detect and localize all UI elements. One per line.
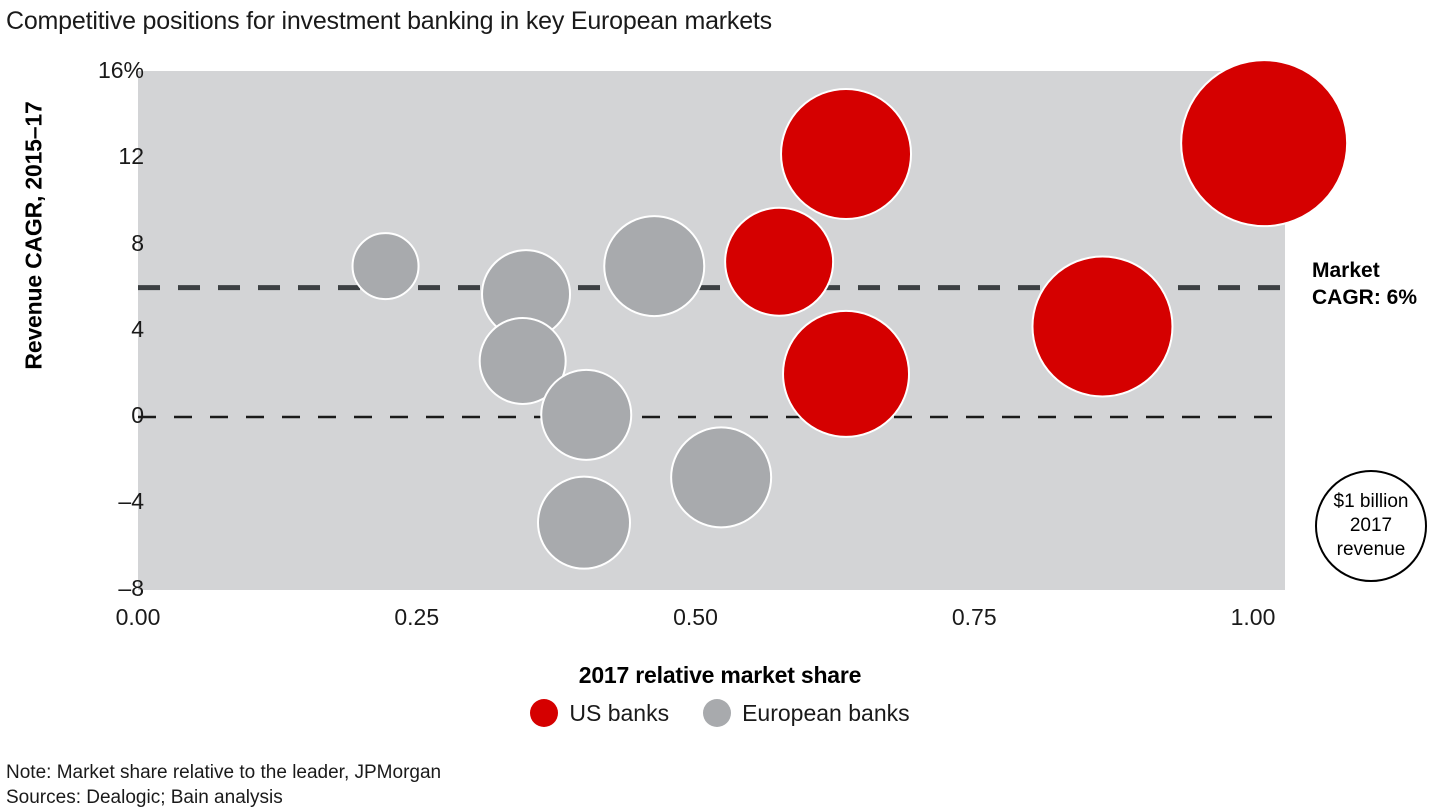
size-legend-line-1: $1 billion <box>1334 490 1409 514</box>
legend-swatch-circle-icon <box>530 699 558 727</box>
bubble-layer <box>138 71 1285 590</box>
market-cagr-annotation: Market CAGR: 6% <box>1312 257 1417 311</box>
plot-area <box>138 71 1285 590</box>
x-tick-label: 1.00 <box>1183 604 1323 631</box>
bubble-us-bank[interactable] <box>783 311 909 437</box>
y-tick-label: –4 <box>24 488 144 515</box>
bubble-us-bank[interactable] <box>725 208 833 316</box>
footnote-note: Note: Market share relative to the leade… <box>6 760 441 785</box>
legend-label: European banks <box>742 700 910 727</box>
y-tick-label: 16% <box>24 57 144 84</box>
page-title: Competitive positions for investment ban… <box>6 6 772 36</box>
y-tick-label: 4 <box>24 316 144 343</box>
bubble-us-bank[interactable] <box>781 89 911 219</box>
bubble-us-bank[interactable] <box>1181 60 1347 226</box>
market-cagr-line-2: CAGR: 6% <box>1312 284 1417 311</box>
bubble-european-bank[interactable] <box>538 477 630 569</box>
x-axis-label: 2017 relative market share <box>0 662 1440 689</box>
legend-swatch-circle-icon <box>703 699 731 727</box>
bubble-european-bank[interactable] <box>353 233 419 299</box>
x-tick-label: 0.50 <box>626 604 766 631</box>
legend-item[interactable]: US banks <box>530 699 669 727</box>
bubble-us-bank[interactable] <box>1032 256 1172 396</box>
footnote-sources: Sources: Dealogic; Bain analysis <box>6 785 441 810</box>
legend-item[interactable]: European banks <box>703 699 910 727</box>
x-tick-label: 0.25 <box>347 604 487 631</box>
footnotes: Note: Market share relative to the leade… <box>6 760 441 810</box>
y-tick-label: –8 <box>24 575 144 602</box>
bubble-european-bank[interactable] <box>541 370 631 460</box>
y-tick-label: 8 <box>24 230 144 257</box>
x-tick-label: 0.75 <box>904 604 1044 631</box>
legend: US banksEuropean banks <box>0 699 1440 727</box>
x-tick-label: 0.00 <box>68 604 208 631</box>
legend-label: US banks <box>569 700 669 727</box>
size-legend-line-3: revenue <box>1337 538 1406 562</box>
bubble-european-bank[interactable] <box>604 216 704 316</box>
bubble-size-legend: $1 billion 2017 revenue <box>1315 470 1427 582</box>
y-tick-label: 0 <box>24 402 144 429</box>
size-legend-line-2: 2017 <box>1350 514 1392 538</box>
y-tick-label: 12 <box>24 143 144 170</box>
market-cagr-line-1: Market <box>1312 257 1417 284</box>
bubble-european-bank[interactable] <box>671 427 771 527</box>
